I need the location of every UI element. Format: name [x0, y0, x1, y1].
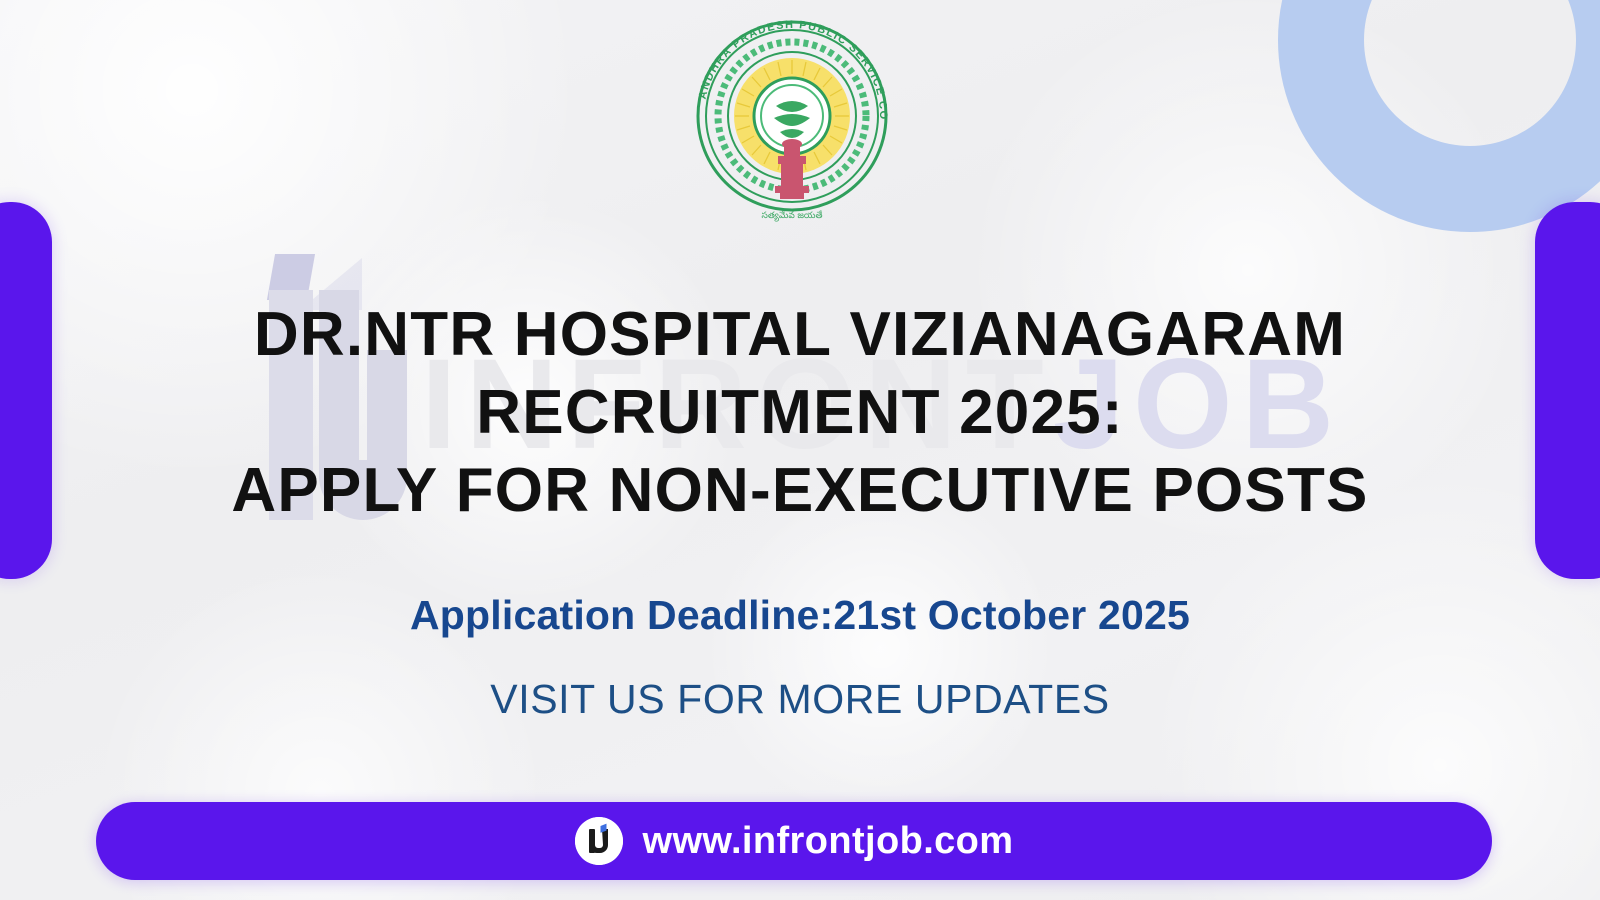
website-footer-bar[interactable]: www.infrontjob.com [96, 802, 1492, 880]
headline-line-1: DR.NTR HOSPITAL VIZIANAGARAM [0, 296, 1600, 374]
poster-headline: DR.NTR HOSPITAL VIZIANAGARAM RECRUITMENT… [0, 296, 1600, 530]
application-deadline-text: Application Deadline:21st October 2025 [0, 592, 1600, 639]
visit-us-cta-text: VISIT US FOR MORE UPDATES [0, 676, 1600, 723]
poster-canvas: INFRONTJOB [0, 0, 1600, 900]
appsc-emblem-logo: సత్యమేవ జయతే ANDHRA PRADESH PUBLIC SERVI… [688, 18, 896, 230]
website-url-text[interactable]: www.infrontjob.com [643, 820, 1014, 863]
svg-text:సత్యమేవ జయతే: సత్యమేవ జయతే [762, 210, 823, 222]
top-right-ring-decoration [1278, 0, 1600, 232]
headline-line-2: RECRUITMENT 2025: [0, 374, 1600, 452]
infrontjob-logo-icon [575, 817, 623, 865]
headline-line-3: APPLY FOR NON-EXECUTIVE POSTS [0, 452, 1600, 530]
